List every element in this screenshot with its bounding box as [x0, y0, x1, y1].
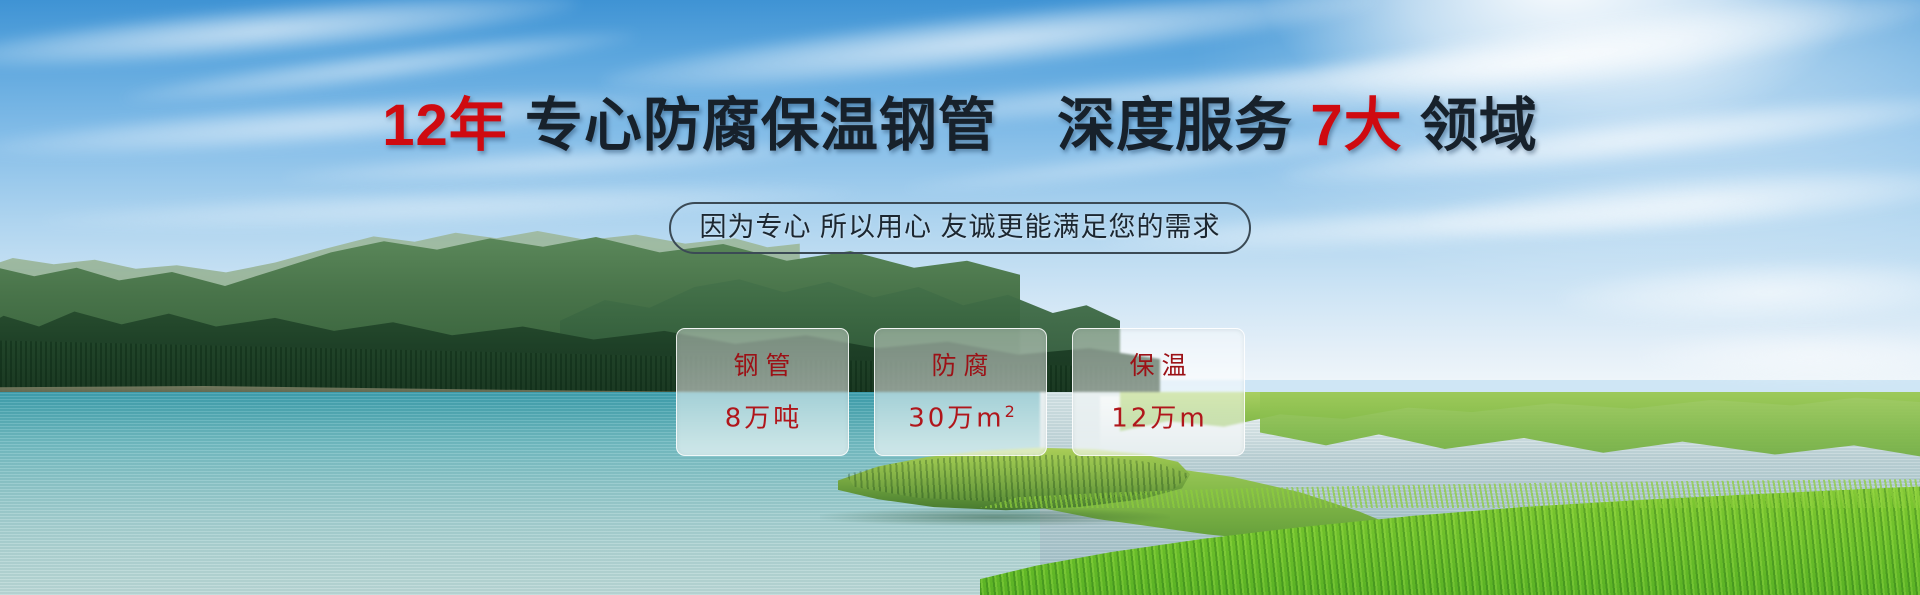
stat-value: 12万m: [1108, 397, 1207, 434]
stat-label: 防腐: [924, 351, 995, 381]
headline-fields: 领域: [1420, 93, 1538, 158]
stat-card-insulation: 保温 12万m: [1072, 328, 1245, 456]
stat-label: 钢管: [726, 351, 797, 381]
stat-card-anticorrosion: 防腐 30万m2: [874, 328, 1047, 456]
stat-value-exponent: 2: [1005, 402, 1015, 421]
stat-value-text: 8万吨: [725, 403, 803, 433]
banner-headline: 12年 专心防腐保温钢管 深度服务 7大 领域: [0, 92, 1920, 160]
banner-subtitle-container: 因为专心 所以用心 友诚更能满足您的需求: [0, 202, 1920, 254]
headline-service: 深度服务: [1057, 93, 1293, 158]
promo-banner: 12年 专心防腐保温钢管 深度服务 7大 领域 因为专心 所以用心 友诚更能满足…: [0, 0, 1920, 595]
stat-card-steel-pipe: 钢管 8万吨: [676, 328, 849, 456]
grass-island-shadow: [820, 508, 1170, 526]
stat-value-text: 12万m: [1111, 403, 1207, 433]
stat-value: 8万吨: [722, 397, 803, 434]
stat-value: 30万m2: [905, 397, 1015, 434]
headline-years: 12年: [382, 93, 508, 158]
stat-card-group: 钢管 8万吨 防腐 30万m2 保温 12万m: [0, 328, 1920, 456]
headline-seven-major: 7大: [1310, 93, 1402, 158]
stat-label: 保温: [1122, 351, 1193, 381]
banner-subtitle: 因为专心 所以用心 友诚更能满足您的需求: [669, 202, 1250, 254]
headline-main: 专心防腐保温钢管: [525, 93, 997, 158]
stat-value-text: 30万m: [908, 403, 1004, 433]
